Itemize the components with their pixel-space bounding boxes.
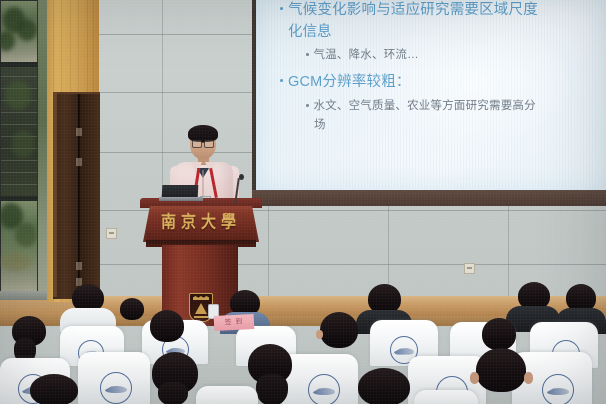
window-grille [1,66,37,198]
slide-bullet-1-continuation: 化信息 [288,22,606,42]
projection-screen: 气候变化影响与适应研究需要区域尺度 化信息 气温、降水、环流… GCM分辨率较粗… [252,0,606,206]
audience-head [30,374,78,404]
lectern-front-panel: 南京大學 [143,206,259,242]
eyeglasses-icon [192,140,214,146]
placard-text: 签 到 [214,316,254,328]
slide-bullet-3-text: GCM分辨率较粗： [288,72,411,93]
bullet-dot-icon [280,7,283,10]
audience-ponytail [256,374,288,404]
slide-bullet-4-continuation: 场 [314,116,606,135]
seat-logo-icon [100,372,132,404]
audience-ear [470,372,479,384]
seat-logo-icon [542,374,574,404]
seat-logo-icon [308,374,340,404]
audience-head [320,312,358,348]
door-jamb [53,92,57,297]
screen-bottom-frame [252,190,606,206]
screen-surface: 气候变化影响与适应研究需要区域尺度 化信息 气温、降水、环流… GCM分辨率较粗… [256,0,606,190]
audience-head [120,298,144,320]
audience-head [482,318,516,350]
door-hinge-mid [76,158,82,166]
exterior-window [0,0,38,296]
slide-bullet-3: GCM分辨率较粗： [280,72,606,93]
slide-bullet-4-text: 水文、空气质量、农业等方面研究需要高分 [314,97,536,116]
slide-bullet-1: 气候变化影响与适应研究需要区域尺度 [280,0,606,21]
lectern-inscription: 南京大學 [143,210,259,234]
seat-cover [282,354,358,404]
slide-bullet-2-text: 气温、降水、环流… [314,46,419,65]
bullet-dot-icon [306,53,309,56]
bullet-dot-icon [306,104,309,107]
audience-head [476,348,526,392]
window-pane-lower [1,201,37,294]
seat-cover [78,352,150,404]
audience-head [358,368,410,404]
audience-ear [316,330,323,339]
bullet-dot-icon [280,79,283,82]
wall-outlet-left [106,228,117,239]
slide-bullet-2: 气温、降水、环流… [306,46,606,65]
slide-bullet-1-text: 气候变化影响与适应研究需要区域尺度 [288,0,538,21]
sign-in-placard: 签 到 [214,314,255,331]
laptop-keyboard[interactable] [159,197,203,201]
seat-cover [414,390,478,404]
wall-outlet-right [464,263,475,274]
slide-bullet-4: 水文、空气质量、农业等方面研究需要高分 [306,97,606,116]
lecture-hall-photo: 气候变化影响与适应研究需要区域尺度 化信息 气温、降水、环流… GCM分辨率较粗… [0,0,606,404]
audience-ponytail [158,382,188,404]
microphone-icon [239,174,244,180]
audience-seating: 签 到 [0,282,606,404]
door-hinge-top [76,128,82,136]
audience-ear [524,372,533,384]
slide-content: 气候变化影响与适应研究需要区域尺度 化信息 气温、降水、环流… GCM分辨率较粗… [280,0,606,135]
window-pane-upper [1,1,37,63]
door-hinge-low [76,262,82,270]
audience-head [150,310,184,342]
seat-cover [196,386,258,404]
